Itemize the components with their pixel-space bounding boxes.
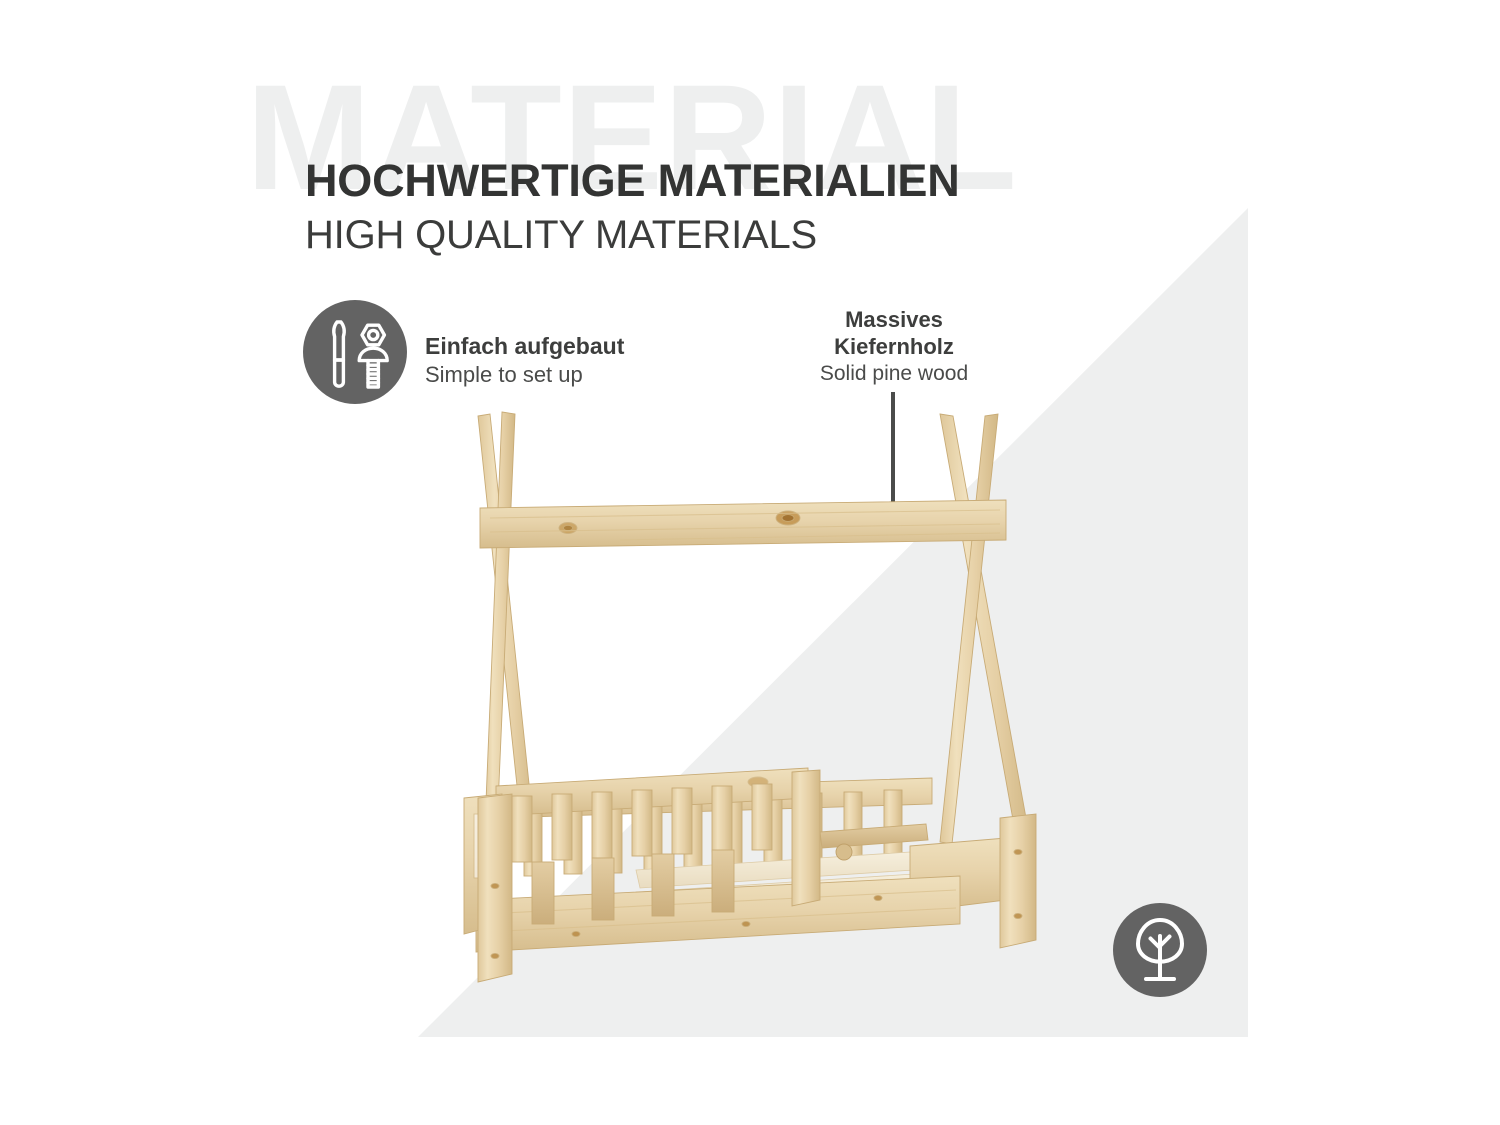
- badge-tree-material: [1113, 903, 1207, 997]
- feature-label-assembly: Einfach aufgebaut Simple to set up: [425, 332, 624, 388]
- page-title-de: HOCHWERTIGE MATERIALIEN: [305, 158, 960, 203]
- tree-icon: [1113, 903, 1207, 997]
- feature-label-de: Einfach aufgebaut: [425, 332, 624, 361]
- page-title-en: HIGH QUALITY MATERIALS: [305, 215, 817, 255]
- feature-label-en: Simple to set up: [425, 361, 624, 388]
- tools-icon: [303, 300, 407, 404]
- callout-de-line2: Kiefernholz: [760, 334, 1028, 361]
- callout-de-line1: Massives: [760, 307, 1028, 334]
- product-image-teepee-bed: [440, 400, 1080, 1000]
- callout-material: Massives Kiefernholz Solid pine wood: [760, 307, 1028, 386]
- infographic-canvas: MATERIAL HOCHWERTIGE MATERIALIEN HIGH QU…: [0, 0, 1500, 1125]
- feature-badge-assembly: [303, 300, 407, 404]
- callout-en: Solid pine wood: [760, 361, 1028, 387]
- teepee-bed-illustration: [440, 400, 1080, 1000]
